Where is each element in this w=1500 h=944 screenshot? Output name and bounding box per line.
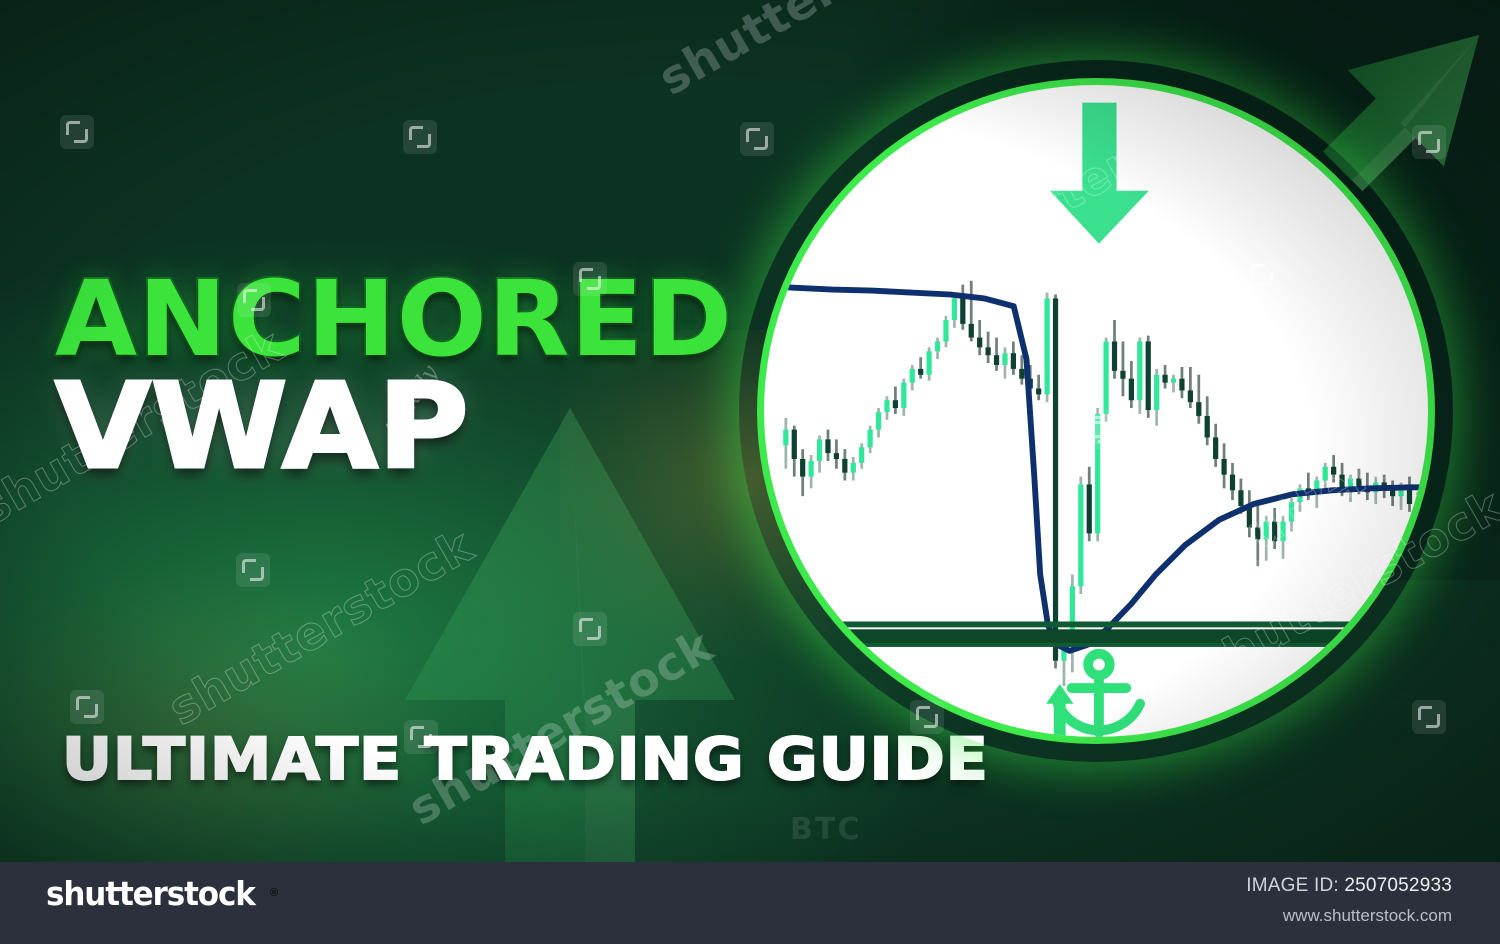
logo-wordmark: shutterstock — [46, 874, 255, 913]
site-url[interactable]: www.shutterstock.com — [1283, 906, 1452, 926]
shutterstock-logo[interactable]: shutterstock ® — [46, 876, 278, 910]
shutterstock-preview-page: ANCHORED VWAP ULTIMATE TRADING GUIDE BTC — [0, 0, 1500, 944]
registered-mark: ® — [270, 887, 278, 899]
image-id-value: 2507052933 — [1344, 875, 1452, 896]
artwork-canvas: ANCHORED VWAP ULTIMATE TRADING GUIDE BTC — [0, 0, 1500, 862]
image-id-label: IMAGE ID: — [1246, 875, 1339, 896]
image-id: IMAGE ID: 2507052933 — [1246, 875, 1452, 897]
noise-overlay — [0, 0, 1500, 862]
